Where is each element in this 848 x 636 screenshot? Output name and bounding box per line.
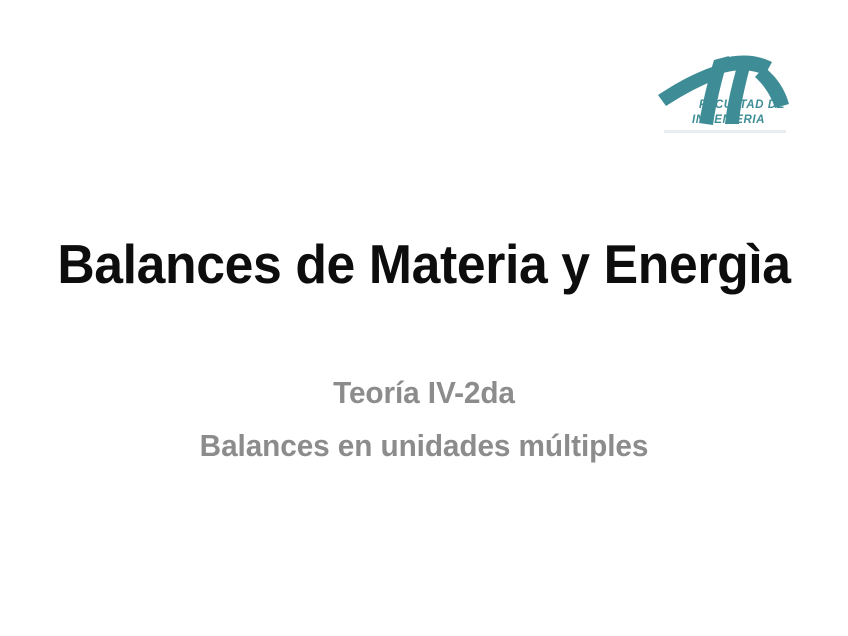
slide-subtitle-line-1: Teoría IV-2da	[17, 366, 831, 419]
slide-subtitle: Teoría IV-2da Balances en unidades múlti…	[0, 366, 848, 472]
slide-subtitle-line-2: Balances en unidades múltiples	[17, 419, 831, 472]
logo-text-line-2: INGENIERIA	[692, 114, 765, 126]
logo-text-line-1: FACULTAD DE	[699, 99, 785, 111]
facultad-de-ingenieria-logo: FACULTAD DE INGENIERIA	[652, 46, 798, 138]
logo-mark-icon: FACULTAD DE INGENIERIA	[652, 46, 798, 138]
logo-underline-divider	[664, 130, 786, 133]
presentation-slide: FACULTAD DE INGENIERIA Balances de Mater…	[0, 0, 848, 636]
slide-title: Balances de Materia y Energìa	[25, 232, 822, 296]
